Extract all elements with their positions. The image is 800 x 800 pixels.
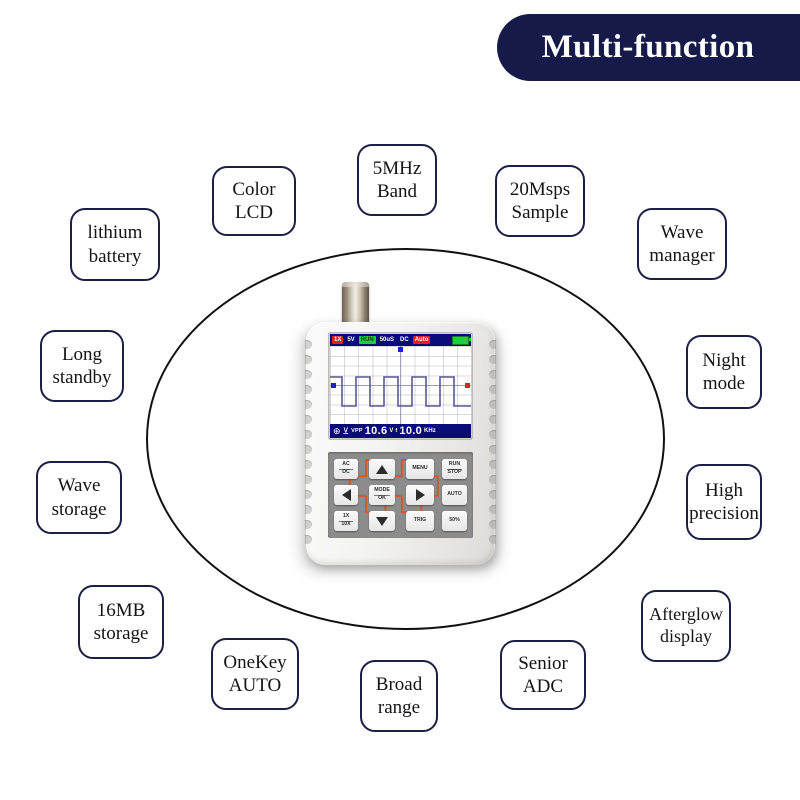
grip-ridge	[305, 490, 312, 499]
vpp-value: 10.6	[365, 425, 388, 437]
feature-chip-lithium-battery[interactable]: lithium battery	[70, 208, 160, 281]
feature-label-line1: Wave	[649, 221, 714, 244]
feature-chip-16mb-storage[interactable]: 16MB storage	[78, 585, 164, 659]
grip-ridge	[305, 460, 312, 469]
crosshair-icon: ⊕	[333, 427, 341, 436]
grip-ridge	[489, 370, 496, 379]
grip-ridge	[489, 475, 496, 484]
key-label-line1: 1X	[343, 514, 349, 520]
arrow-left-icon	[342, 489, 351, 501]
channel-marker-left-icon	[331, 383, 336, 388]
waveform-plot-area	[330, 346, 471, 424]
grip-ridge	[305, 400, 312, 409]
freq-unit: KHz	[424, 428, 436, 434]
feature-label-line1: Night	[702, 349, 745, 372]
status-run-badge: RUN	[359, 336, 376, 344]
grip-ridge	[305, 340, 312, 349]
grip-ridge	[489, 340, 496, 349]
feature-label-line2: mode	[702, 372, 745, 395]
status-volts-per-div: 5V	[345, 336, 356, 344]
feature-label-line2: LCD	[232, 201, 275, 224]
grip-ridge	[489, 430, 496, 439]
grip-ridge	[489, 400, 496, 409]
grip-ridge	[305, 520, 312, 529]
feature-chip-high-precision[interactable]: High precision	[686, 464, 762, 540]
key-label-line1: RUN	[449, 462, 460, 468]
key-label-line2: DC	[342, 470, 350, 476]
key-label-line1: TRIG	[414, 518, 426, 524]
grip-ridge	[489, 445, 496, 454]
grip-ridge	[489, 490, 496, 499]
header-banner: Multi-function	[497, 14, 800, 81]
feature-chip-20msps-sample[interactable]: 20Msps Sample	[495, 165, 585, 237]
key-down[interactable]	[369, 511, 395, 531]
device-body: 1X 5V RUN 50uS DC Auto	[306, 322, 495, 565]
feature-label-line2: standby	[52, 366, 111, 389]
key-fifty-percent[interactable]: 50%	[442, 511, 467, 531]
grip-ridge	[305, 370, 312, 379]
status-trigger-mode: Auto	[413, 336, 431, 344]
feature-label-line1: Wave	[52, 474, 107, 497]
key-mode-ok[interactable]: MODE OK	[369, 485, 395, 505]
grip-ridge	[489, 385, 496, 394]
grip-ridge	[305, 505, 312, 514]
grip-ridge	[489, 415, 496, 424]
feature-chip-afterglow-display[interactable]: Afterglow display	[641, 590, 731, 662]
feature-label-line1: 5MHz	[373, 157, 422, 180]
key-label-line2: STOP	[447, 470, 461, 476]
key-label-line1: 50%	[449, 518, 459, 524]
lcd-status-bar: 1X 5V RUN 50uS DC Auto	[330, 334, 471, 346]
feature-label-line1: lithium	[88, 221, 143, 244]
grip-ridge	[305, 355, 312, 364]
lcd-screen[interactable]: 1X 5V RUN 50uS DC Auto	[330, 334, 471, 438]
feature-label-line2: AUTO	[223, 674, 286, 697]
grip-ridges-left	[305, 340, 312, 548]
key-auto[interactable]: AUTO	[442, 485, 467, 505]
arrow-down-icon	[376, 517, 388, 526]
vpp-label: VPP	[351, 428, 363, 434]
bnc-connector-icon	[342, 282, 369, 326]
key-label-line1: MODE	[374, 488, 390, 494]
feature-label-line2: range	[376, 696, 422, 719]
lcd-bezel: 1X 5V RUN 50uS DC Auto	[328, 332, 473, 440]
feature-label-line2: battery	[88, 245, 143, 268]
bnc-connector-top-icon	[342, 282, 369, 287]
status-time-per-div: 50uS	[378, 336, 396, 344]
square-wave-icon: ⊻	[343, 427, 350, 436]
feature-label-line2: Sample	[510, 201, 570, 224]
oscilloscope-device: 1X 5V RUN 50uS DC Auto	[296, 282, 508, 572]
feature-chip-5mhz-band[interactable]: 5MHz Band	[357, 144, 437, 216]
lcd-measurement-readout: ⊕ ⊻ VPP 10.6 V f 10.0 KHz	[330, 424, 471, 438]
feature-chip-wave-manager[interactable]: Wave manager	[637, 208, 727, 280]
status-coupling: DC	[398, 336, 411, 344]
freq-value: 10.0	[399, 425, 422, 437]
feature-chip-wave-storage[interactable]: Wave storage	[36, 461, 122, 534]
feature-label-line2: precision	[689, 502, 759, 525]
grip-ridge	[305, 445, 312, 454]
key-left[interactable]	[334, 485, 358, 505]
feature-label-line1: OneKey	[223, 651, 286, 674]
feature-label-line2: storage	[52, 498, 107, 521]
key-run-stop[interactable]: RUN STOP	[442, 459, 467, 479]
grip-ridge	[489, 535, 496, 544]
key-label-line1: MENU	[412, 466, 427, 472]
key-right[interactable]	[406, 485, 434, 505]
grip-ridge	[489, 520, 496, 529]
arrow-up-icon	[376, 465, 388, 474]
status-probe-badge: 1X	[332, 336, 343, 344]
key-label-line1: AC	[342, 462, 350, 468]
freq-label: f	[395, 428, 397, 434]
feature-chip-broad-range[interactable]: Broad range	[360, 660, 438, 732]
page-title: Multi-function	[542, 29, 755, 66]
grip-ridge	[305, 430, 312, 439]
feature-label-line2: display	[649, 626, 723, 648]
grip-ridge	[489, 460, 496, 469]
key-menu[interactable]: MENU	[406, 459, 434, 479]
feature-label-line1: High	[689, 479, 759, 502]
trigger-level-marker-icon	[465, 383, 470, 388]
feature-label-line1: Color	[232, 178, 275, 201]
feature-label-line1: Afterglow	[649, 604, 723, 626]
feature-label-line1: Senior	[518, 652, 568, 675]
grip-ridge	[305, 475, 312, 484]
feature-chip-long-standby[interactable]: Long standby	[40, 330, 124, 402]
key-ac-dc[interactable]: AC DC	[334, 459, 358, 479]
grip-ridges-right	[489, 340, 496, 548]
grip-ridge	[305, 535, 312, 544]
feature-label-line2: storage	[94, 622, 149, 645]
infographic-canvas: Multi-function Color LCD 5MHz Band 20Msp…	[0, 0, 800, 800]
feature-label-line1: 16MB	[94, 599, 149, 622]
grip-ridge	[489, 505, 496, 514]
grip-ridge	[305, 415, 312, 424]
arrow-right-icon	[416, 489, 425, 501]
key-up[interactable]	[369, 459, 395, 479]
battery-icon	[452, 336, 469, 345]
grip-ridge	[305, 385, 312, 394]
grip-ridge	[489, 355, 496, 364]
keypad-panel: AC DC MENU RUN STOP	[328, 452, 473, 538]
feature-chip-night-mode[interactable]: Night mode	[686, 335, 762, 409]
feature-chip-onekey-auto[interactable]: OneKey AUTO	[211, 638, 299, 710]
feature-chip-senior-adc[interactable]: Senior ADC	[500, 640, 586, 710]
key-trig[interactable]: TRIG	[406, 511, 434, 531]
square-wave-trace	[330, 346, 471, 424]
feature-label-line1: Broad	[376, 673, 422, 696]
feature-chip-color-lcd[interactable]: Color LCD	[212, 166, 296, 236]
trigger-position-marker-icon	[398, 347, 403, 352]
feature-label-line1: Long	[52, 343, 111, 366]
key-label-line1: AUTO	[447, 492, 462, 498]
key-label-line2: OK	[378, 496, 386, 502]
vpp-unit: V	[389, 428, 393, 434]
key-label-line2: 10X	[341, 522, 350, 528]
feature-label-line2: Band	[373, 180, 422, 203]
feature-label-line2: ADC	[518, 675, 568, 698]
feature-label-line1: 20Msps	[510, 178, 570, 201]
feature-label-line2: manager	[649, 244, 714, 267]
key-1x-10x[interactable]: 1X 10X	[334, 511, 358, 531]
